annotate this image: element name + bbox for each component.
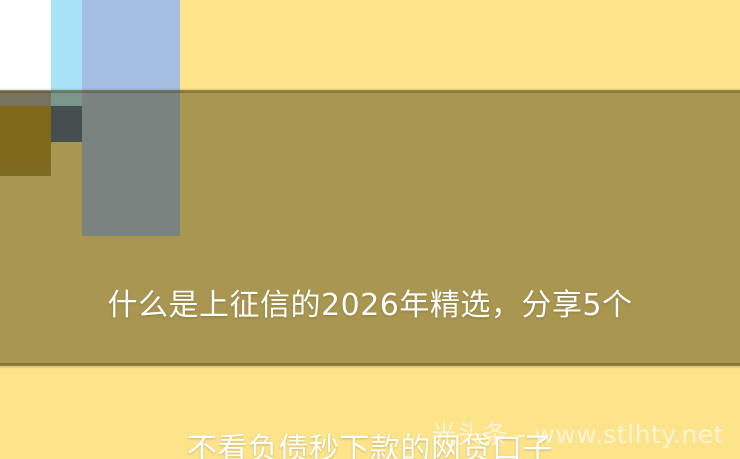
decor-gray-strip bbox=[0, 91, 51, 106]
overlay-band-top-edge bbox=[0, 88, 740, 93]
watermark-text: 光头条 - www.stlhty.net bbox=[431, 415, 724, 451]
article-cover-image: 什么是上征信的2026年精选，分享5个 不看负债秒下款的网贷口子 光头条 - w… bbox=[0, 0, 740, 459]
headline-line-1: 什么是上征信的2026年精选，分享5个 bbox=[0, 282, 740, 330]
decor-dark-gold-block bbox=[0, 106, 51, 176]
decor-cyan-bar bbox=[51, 0, 82, 106]
decor-white-panel bbox=[0, 0, 51, 91]
decor-navy-square bbox=[51, 106, 82, 142]
